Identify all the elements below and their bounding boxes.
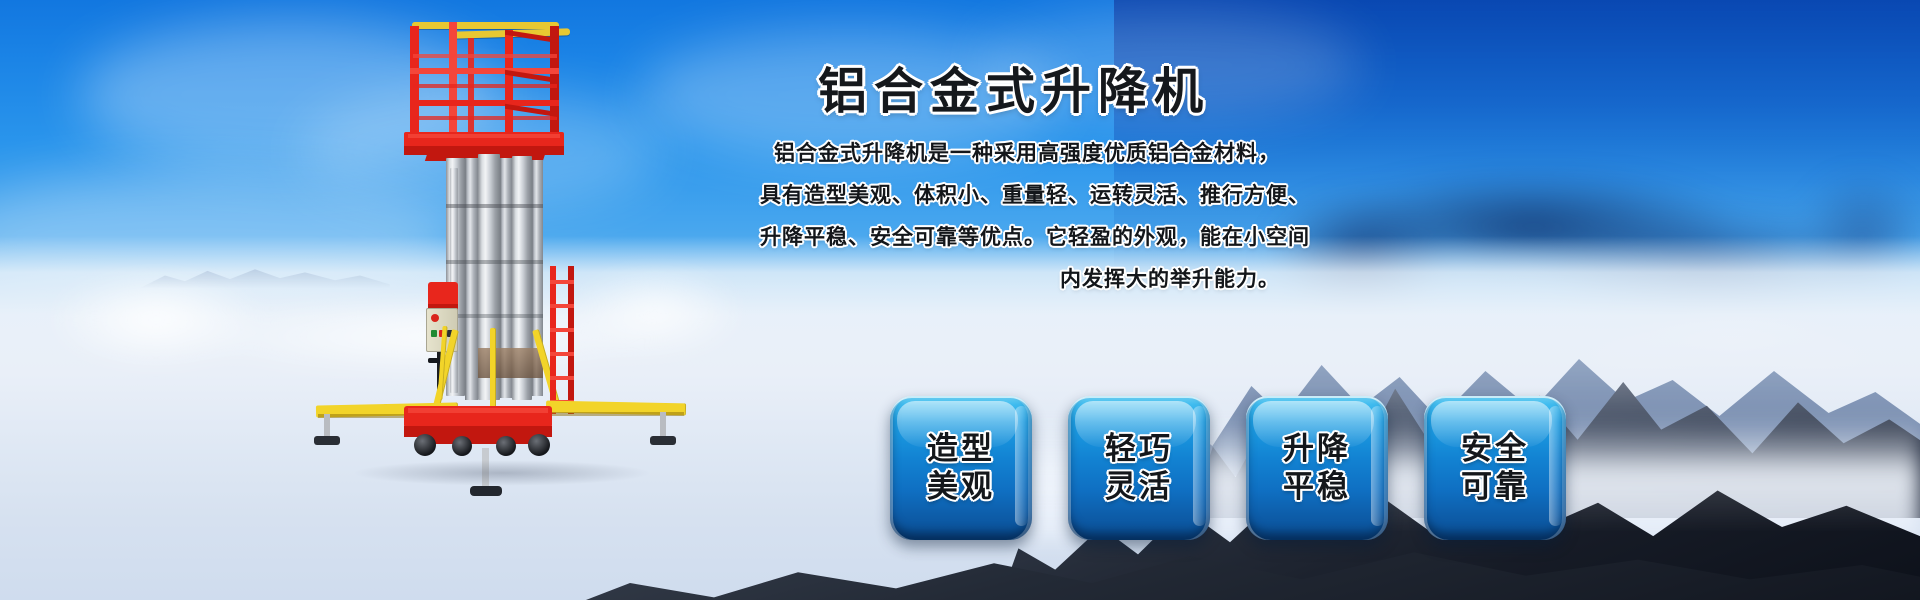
feature-badge-line1: 升降 — [1283, 430, 1351, 468]
description-line: 升降平稳、安全可靠等优点。它轻盈的外观，能在小空间 — [760, 217, 1280, 259]
feature-badge-line2: 平稳 — [1283, 468, 1351, 506]
feature-badge-line2: 美观 — [927, 468, 995, 506]
feature-badge-line1: 造型 — [927, 430, 995, 468]
feature-badge-appearance[interactable]: 造型 美观 — [890, 396, 1032, 540]
feature-badge-line2: 灵活 — [1105, 468, 1173, 506]
feature-badge-smooth-lifting[interactable]: 升降 平稳 — [1246, 396, 1388, 540]
feature-badge-safe-reliable[interactable]: 安全 可靠 — [1424, 396, 1566, 540]
feature-badge-list: 造型 美观 轻巧 灵活 升降 平稳 安全 可靠 — [890, 396, 1566, 540]
product-image-aluminum-lift — [300, 8, 700, 498]
description-line: 具有造型美观、体积小、重量轻、运转灵活、推行方便、 — [760, 175, 1280, 217]
feature-badge-line1: 轻巧 — [1105, 430, 1173, 468]
product-banner: 铝合金式升降机 铝合金式升降机是一种采用高强度优质铝合金材料， 具有造型美观、体… — [0, 0, 1920, 600]
feature-badge-line2: 可靠 — [1461, 468, 1529, 506]
description-line: 铝合金式升降机是一种采用高强度优质铝合金材料， — [760, 133, 1280, 175]
product-description: 铝合金式升降机是一种采用高强度优质铝合金材料， 具有造型美观、体积小、重量轻、运… — [760, 133, 1280, 301]
page-title: 铝合金式升降机 — [818, 52, 1210, 123]
feature-badge-line1: 安全 — [1461, 430, 1529, 468]
description-line: 内发挥大的举升能力。 — [760, 259, 1280, 301]
feature-badge-lightweight[interactable]: 轻巧 灵活 — [1068, 396, 1210, 540]
